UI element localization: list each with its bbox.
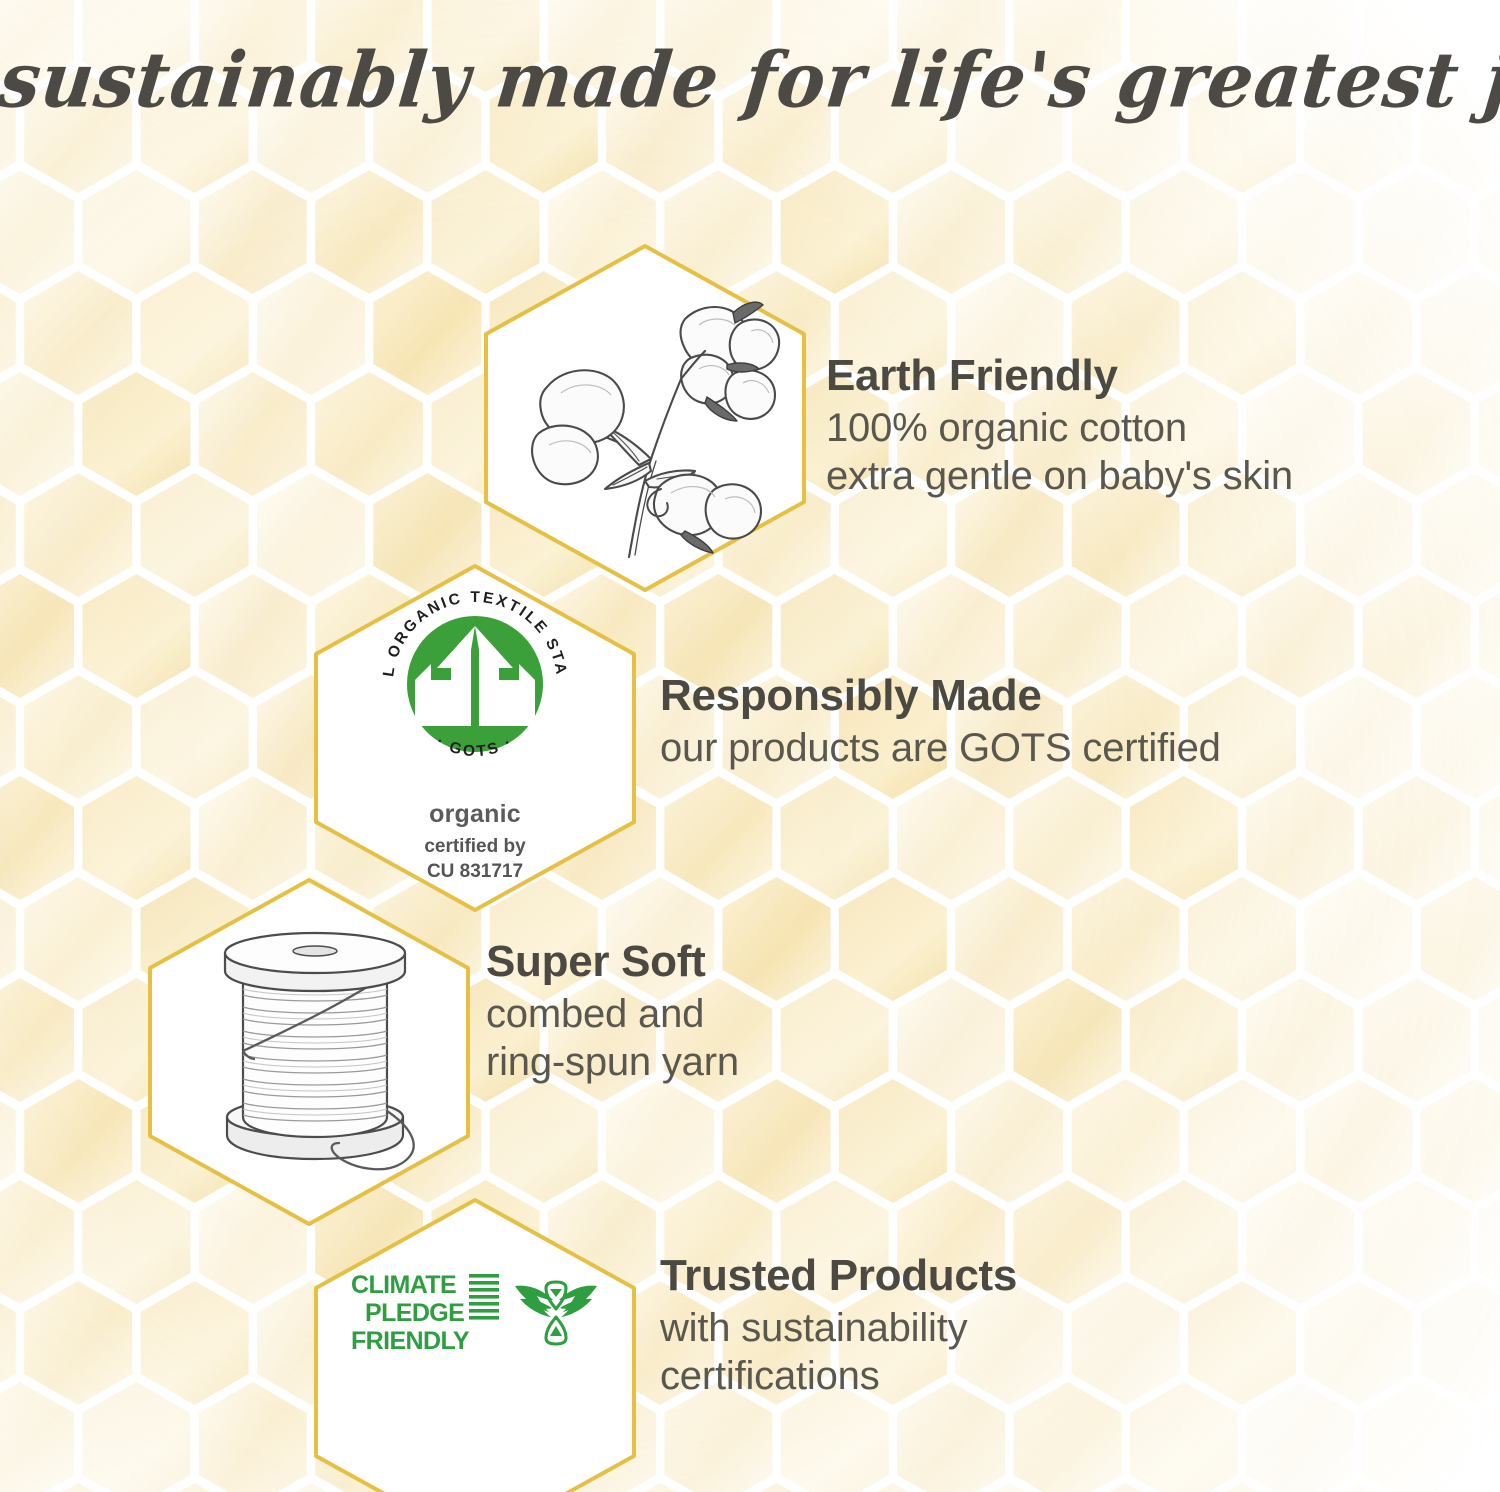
feature-line: certifications [660,1352,1017,1401]
headline-text: sustainably made for life's greatest joy [0,34,1500,124]
product-feature-infographic: sustainably made for life's greatest joy… [0,0,1500,1492]
hex-card-super-soft [144,876,474,1228]
hex-card-trusted-products: CLIMATE PLEDGE FRIENDLY [310,1196,640,1492]
cotton-branch-icon [509,273,781,563]
feature-line: 100% organic cotton [826,404,1293,453]
winged-hourglass-icon [513,1278,599,1348]
feature-line: our products are GOTS certified [660,724,1221,773]
gots-logo: GLOBAL ORGANIC TEXTILE STANDARD · GOTS ·… [371,580,579,884]
hex-card-responsibly-made: GLOBAL ORGANIC TEXTILE STANDARD · GOTS ·… [310,562,640,914]
feature-text-responsibly-made: Responsibly Made our products are GOTS c… [660,672,1221,772]
cpf-line-2: PLEDGE [365,1299,464,1327]
feature-line: combed and [486,990,739,1039]
feature-text-earth-friendly: Earth Friendly 100% organic cotton extra… [826,352,1293,501]
feature-title: Trusted Products [660,1252,1017,1300]
cpf-line-1: CLIMATE [351,1271,456,1299]
gots-certified-by-label: certified by [424,836,525,857]
feature-line: with sustainability [660,1304,1017,1353]
climate-pledge-friendly-wordmark: CLIMATE PLEDGE FRIENDLY [351,1270,499,1356]
feature-text-trusted-products: Trusted Products with sustainability cer… [660,1252,1017,1401]
page-headline: sustainably made for life's greatest joy… [0,44,1500,116]
climate-pledge-friendly-logo: CLIMATE PLEDGE FRIENDLY [351,1270,599,1356]
thread-spool-icon [197,921,433,1179]
gots-organic-label: organic [429,800,521,829]
feature-title: Earth Friendly [826,352,1293,400]
feature-line: extra gentle on baby's skin [826,452,1293,501]
gots-seal-icon: GLOBAL ORGANIC TEXTILE STANDARD · GOTS · [371,580,579,788]
feature-text-super-soft: Super Soft combed and ring-spun yarn [486,938,739,1087]
feature-title: Super Soft [486,938,739,986]
feature-line: ring-spun yarn [486,1038,739,1087]
hex-card-earth-friendly [480,242,810,594]
feature-title: Responsibly Made [660,672,1221,720]
cpf-line-3: FRIENDLY [351,1327,470,1355]
